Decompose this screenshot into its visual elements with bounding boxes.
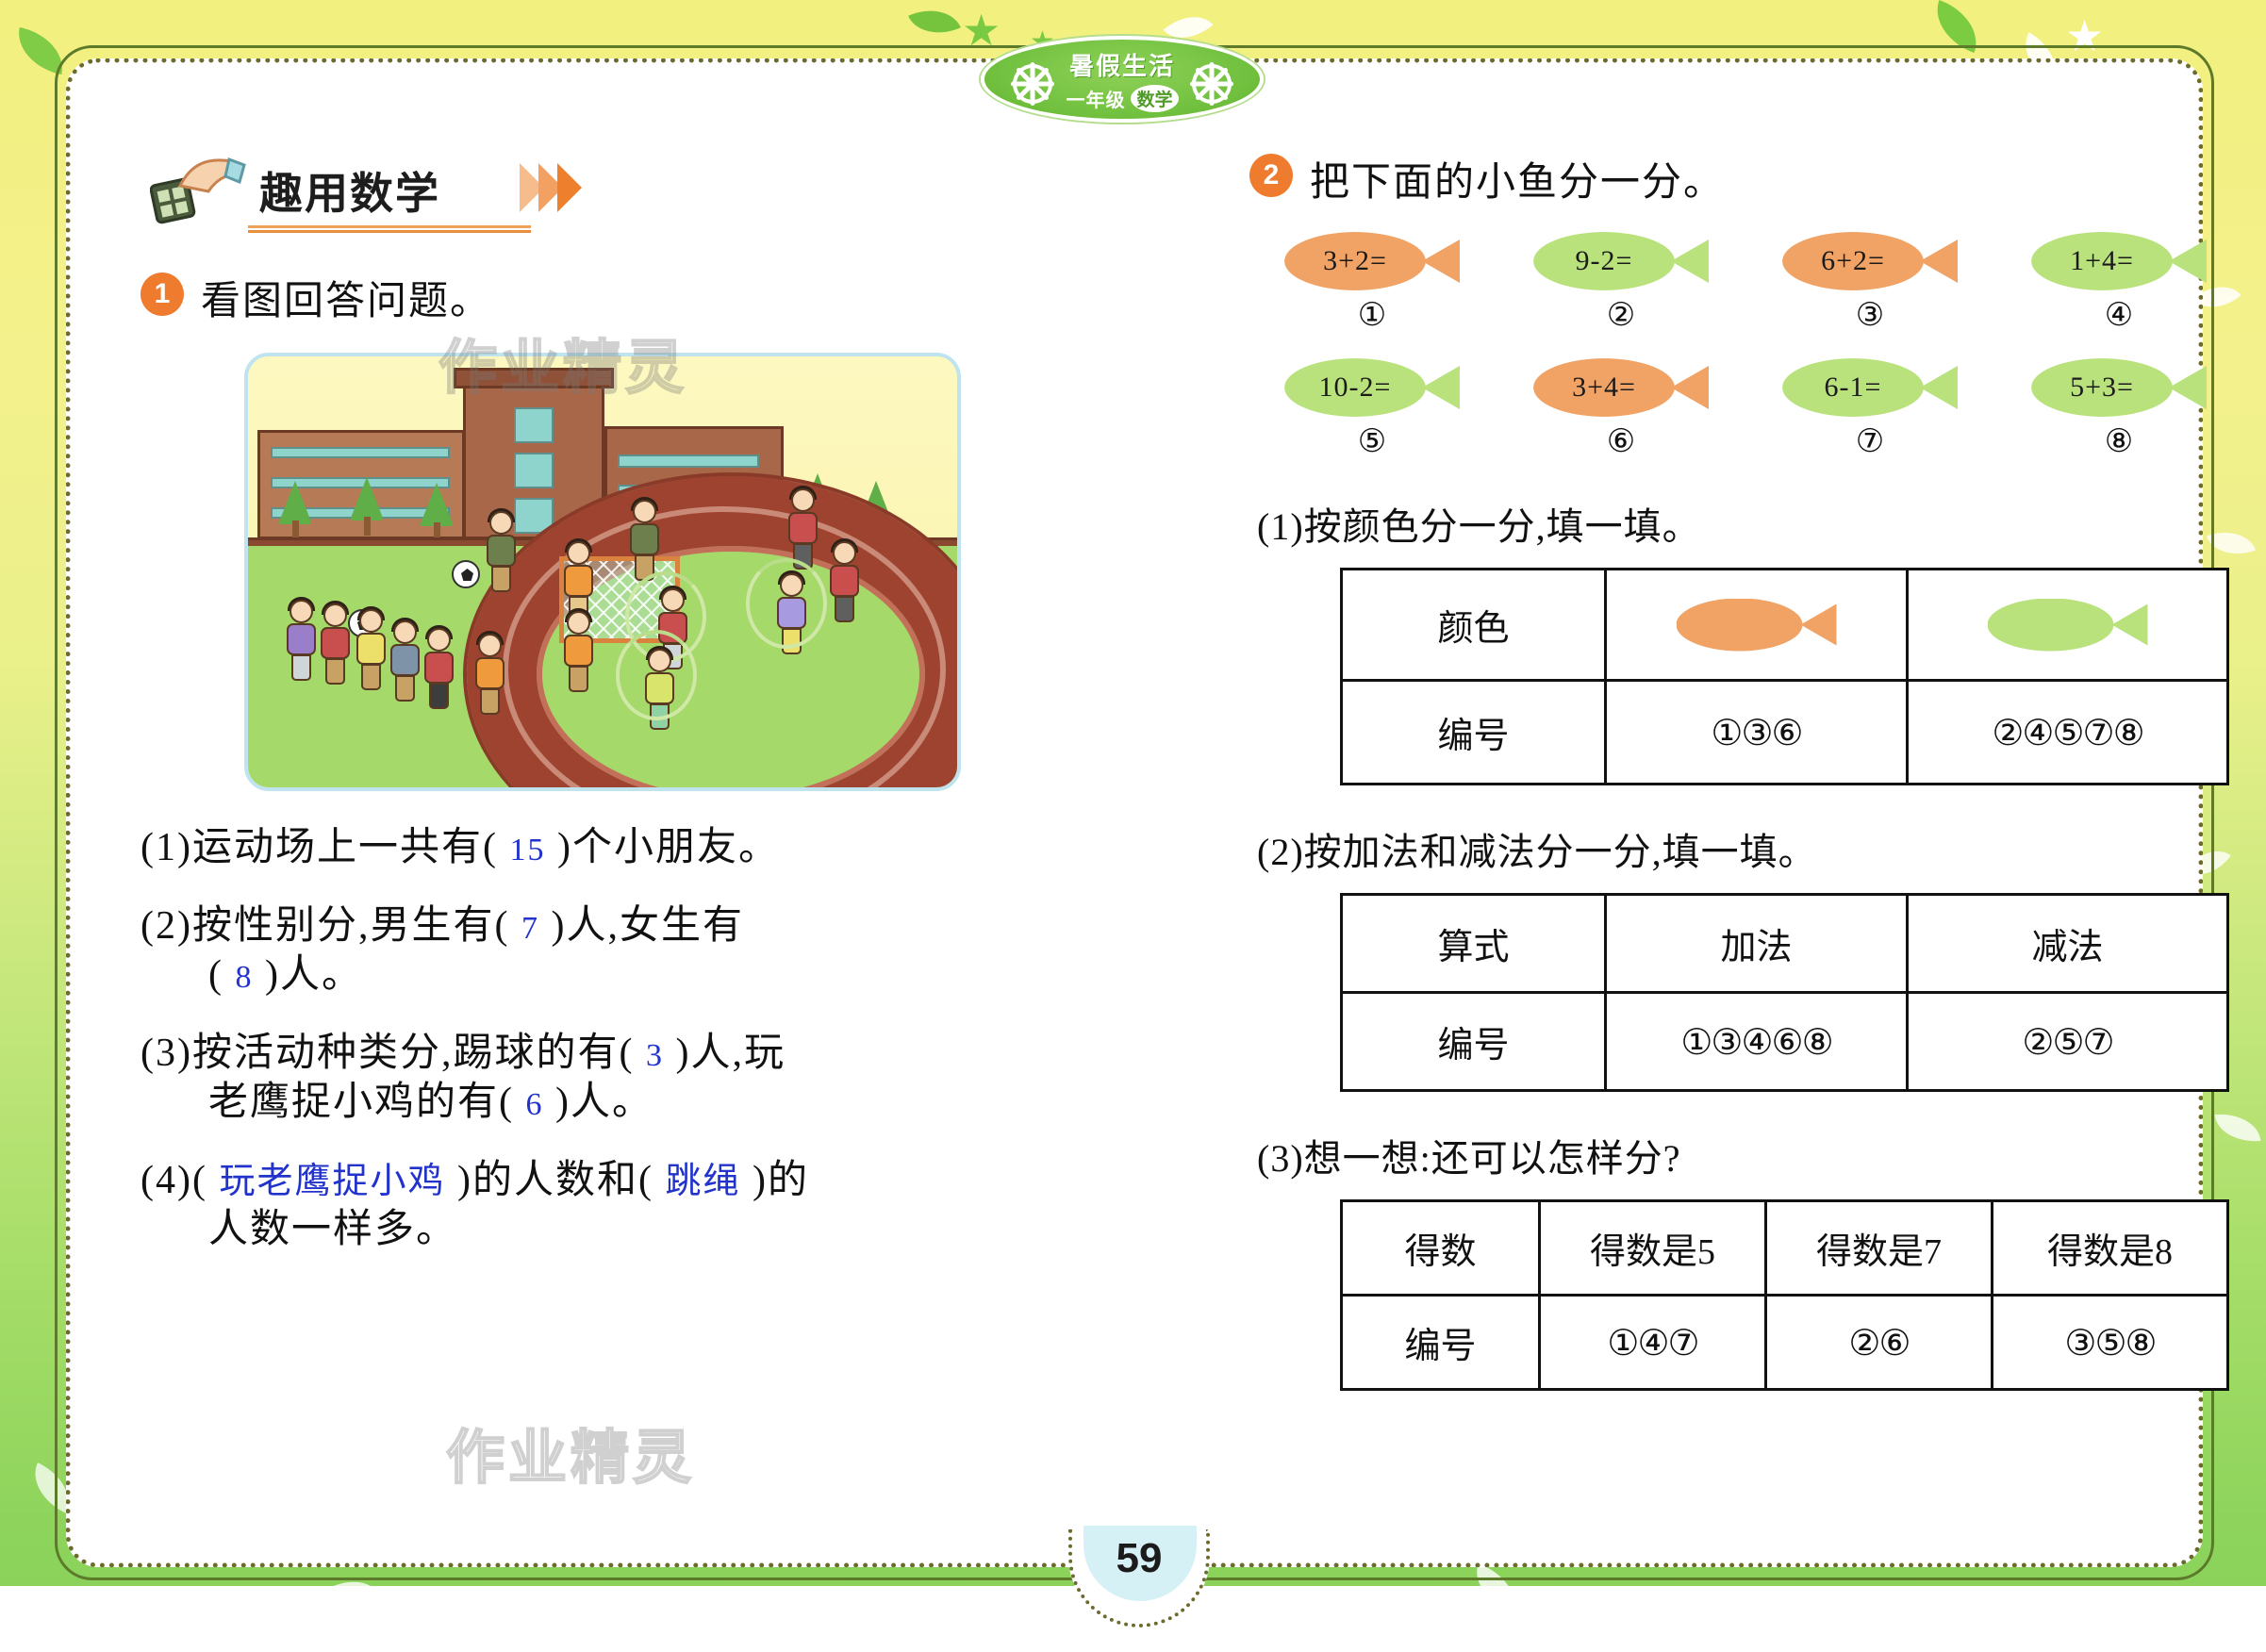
section-header: 趣用数学 bbox=[150, 150, 1159, 237]
fish-shape-orange bbox=[1677, 599, 1837, 652]
watermark: 作业精灵 bbox=[446, 1410, 695, 1495]
answer-line-1: (1)运动场上一共有( 15 )个小朋友。 bbox=[141, 823, 1159, 873]
row-header-id: 编号 bbox=[1342, 681, 1606, 785]
col-header-sum-5: 得数是5 bbox=[1540, 1201, 1766, 1296]
answer-sum8-ids[interactable]: ③⑤⑧ bbox=[1993, 1296, 2228, 1390]
fish-shape-5: 10-2= bbox=[1284, 358, 1460, 417]
fish-shape-4: 1+4= bbox=[2031, 232, 2207, 290]
row-header-color: 颜色 bbox=[1342, 570, 1606, 681]
answer-orange-ids[interactable]: ①③⑥ bbox=[1606, 681, 1908, 785]
fish-row-top: 3+2= ① 9-2= ② 6+2= ③ bbox=[1272, 232, 2266, 334]
fish-expression: 10-2= bbox=[1319, 372, 1392, 404]
col-header-sum-8: 得数是8 bbox=[1993, 1201, 2228, 1296]
fish-item: 10-2= ⑤ bbox=[1272, 358, 1472, 460]
fish-shape-1: 3+2= bbox=[1284, 232, 1460, 290]
worksheet-sheet: 趣用数学 1 看图回答问题。 bbox=[66, 58, 2203, 1567]
table-row: 编号 ①③④⑥⑧ ②⑤⑦ bbox=[1342, 993, 2228, 1091]
question-number-badge: 1 bbox=[141, 273, 184, 316]
item-text: )的 bbox=[753, 1159, 809, 1202]
item-text: )人,女生有 bbox=[551, 904, 744, 948]
col-header-addition: 加法 bbox=[1606, 895, 1908, 993]
ship-wheel-icon bbox=[1192, 64, 1232, 104]
row-header-id: 编号 bbox=[1342, 1296, 1540, 1390]
col-header-sum-7: 得数是7 bbox=[1766, 1201, 1993, 1296]
table-row: 颜色 bbox=[1342, 570, 2228, 681]
playground-illustration bbox=[244, 353, 961, 791]
book-title-badge: 暑假生活 一年级 数学 bbox=[981, 36, 1264, 123]
answer-line-3: (3)按活动种类分,踢球的有( 3 )人,玩 老鹰捉小鸡的有( 6 )人。 bbox=[141, 1029, 1159, 1128]
fish-item: 5+3= ⑧ bbox=[2019, 358, 2219, 460]
fish-shape-3: 6+2= bbox=[1782, 232, 1958, 290]
item-text: )人。 bbox=[265, 953, 363, 997]
fish-item: 1+4= ④ bbox=[2019, 232, 2219, 334]
item-text: ( bbox=[208, 953, 223, 997]
question-1-heading: 1 看图回答问题。 bbox=[141, 269, 1159, 326]
fish-id: ⑦ bbox=[1770, 422, 1970, 460]
question-number-badge: 2 bbox=[1249, 154, 1293, 197]
question-1-answers: (1)运动场上一共有( 15 )个小朋友。 (2)按性别分,男生有( 7 )人,… bbox=[141, 823, 1159, 1255]
leaf-decoration bbox=[908, 0, 961, 45]
page-number: 59 bbox=[1116, 1535, 1163, 1582]
table-row: 得数 得数是5 得数是7 得数是8 bbox=[1342, 1201, 2228, 1296]
answer-subtraction-ids[interactable]: ②⑤⑦ bbox=[1908, 993, 2228, 1091]
answer-line-2: (2)按性别分,男生有( 7 )人,女生有 ( 8 )人。 bbox=[141, 901, 1159, 1000]
sub-question-1-prompt: (1)按颜色分一分,填一填。 bbox=[1257, 496, 2266, 551]
ship-wheel-icon bbox=[1013, 64, 1052, 104]
right-column: 2 把下面的小鱼分一分。 3+2= ① 9-2= ② bbox=[1249, 150, 2266, 1391]
fish-expression: 1+4= bbox=[2070, 245, 2134, 277]
fish-expression: 9-2= bbox=[1576, 245, 1633, 277]
chevron-right-icon bbox=[557, 163, 582, 212]
answer-blank-4a[interactable]: 玩老鹰捉小鸡 bbox=[219, 1162, 445, 1201]
answer-sum5-ids[interactable]: ①④⑦ bbox=[1540, 1296, 1766, 1390]
section-title: 趣用数学 bbox=[259, 159, 440, 222]
answer-blank-3a[interactable]: 3 bbox=[646, 1038, 664, 1073]
fish-item: 3+2= ① bbox=[1272, 232, 1472, 334]
fish-id: ④ bbox=[2019, 296, 2219, 334]
item-label: (2) bbox=[141, 904, 192, 948]
fish-expression: 6-1= bbox=[1825, 372, 1882, 404]
fish-id: ⑧ bbox=[2019, 422, 2219, 460]
item-text: 人数一样多。 bbox=[208, 1208, 457, 1251]
answer-blank-1[interactable]: 15 bbox=[509, 833, 545, 867]
fish-expression: 3+2= bbox=[1323, 245, 1387, 277]
fish-id: ① bbox=[1272, 296, 1472, 334]
sum-classification-table: 得数 得数是5 得数是7 得数是8 编号 ①④⑦ ②⑥ ③⑤⑧ bbox=[1340, 1199, 2229, 1391]
sub-question-2-prompt: (2)按加法和减法分一分,填一填。 bbox=[1257, 821, 2266, 876]
item-label: (4) bbox=[141, 1159, 192, 1202]
green-fish-header bbox=[1908, 570, 2228, 681]
item-text: 按性别分,男生有( bbox=[192, 904, 510, 948]
fish-item: 6+2= ③ bbox=[1770, 232, 1970, 334]
row-header-sum: 得数 bbox=[1342, 1201, 1540, 1296]
soccer-ball-icon bbox=[452, 560, 480, 588]
answer-addition-ids[interactable]: ①③④⑥⑧ bbox=[1606, 993, 1908, 1091]
item-text: ( bbox=[192, 1159, 207, 1202]
sub-question-3-prompt: (3)想一想:还可以怎样分? bbox=[1257, 1128, 2266, 1182]
fish-shape-7: 6-1= bbox=[1782, 358, 1958, 417]
table-row: 编号 ①④⑦ ②⑥ ③⑤⑧ bbox=[1342, 1296, 2228, 1390]
fish-row-bottom: 10-2= ⑤ 3+4= ⑥ 6-1= ⑦ bbox=[1272, 358, 2266, 460]
item-text: )人,玩 bbox=[675, 1032, 786, 1075]
fish-expression: 3+4= bbox=[1572, 372, 1636, 404]
fish-id: ② bbox=[1521, 296, 1721, 334]
fish-shape-green bbox=[1988, 599, 2148, 652]
item-label: (3) bbox=[141, 1032, 192, 1075]
fish-shape-6: 3+4= bbox=[1533, 358, 1709, 417]
answer-blank-4b[interactable]: 跳绳 bbox=[665, 1162, 740, 1201]
item-text: 按活动种类分,踢球的有( bbox=[192, 1032, 635, 1075]
fish-item: 3+4= ⑥ bbox=[1521, 358, 1721, 460]
item-label: (1) bbox=[141, 826, 192, 869]
left-column: 趣用数学 1 看图回答问题。 bbox=[141, 150, 1159, 1283]
item-text: )的人数和( bbox=[457, 1159, 653, 1202]
item-text: )个小朋友。 bbox=[557, 826, 780, 869]
book-subject: 数学 bbox=[1131, 85, 1178, 112]
fish-item: 9-2= ② bbox=[1521, 232, 1721, 334]
answer-line-4: (4)( 玩老鹰捉小鸡 )的人数和( 跳绳 )的 人数一样多。 bbox=[141, 1156, 1159, 1255]
answer-sum7-ids[interactable]: ②⑥ bbox=[1766, 1296, 1993, 1390]
answer-blank-3b[interactable]: 6 bbox=[526, 1087, 544, 1122]
question-2-prompt: 把下面的小鱼分一分。 bbox=[1310, 150, 1725, 207]
fish-id: ⑤ bbox=[1272, 422, 1472, 460]
fish-item: 6-1= ⑦ bbox=[1770, 358, 1970, 460]
operation-classification-table: 算式 加法 减法 编号 ①③④⑥⑧ ②⑤⑦ bbox=[1340, 893, 2229, 1092]
orange-fish-header bbox=[1606, 570, 1908, 681]
answer-blank-2b[interactable]: 8 bbox=[236, 960, 254, 995]
fish-id: ③ bbox=[1770, 296, 1970, 334]
color-classification-table: 颜色 编号 ①③⑥ ②④⑤⑦⑧ bbox=[1340, 568, 2229, 785]
hand-calculator-icon bbox=[150, 154, 248, 225]
fish-id: ⑥ bbox=[1521, 422, 1721, 460]
fish-shape-2: 9-2= bbox=[1533, 232, 1709, 290]
row-header-id: 编号 bbox=[1342, 993, 1606, 1091]
item-text: )人。 bbox=[555, 1081, 653, 1124]
question-2-heading: 2 把下面的小鱼分一分。 bbox=[1249, 150, 2266, 207]
answer-green-ids[interactable]: ②④⑤⑦⑧ bbox=[1908, 681, 2228, 785]
book-title: 暑假生活 bbox=[1069, 47, 1175, 82]
table-row: 算式 加法 减法 bbox=[1342, 895, 2228, 993]
section-underline bbox=[248, 225, 531, 233]
fish-expression: 5+3= bbox=[2070, 372, 2134, 404]
question-1-prompt: 看图回答问题。 bbox=[201, 269, 491, 326]
col-header-subtraction: 减法 bbox=[1908, 895, 2228, 993]
table-row: 编号 ①③⑥ ②④⑤⑦⑧ bbox=[1342, 681, 2228, 785]
fish-shape-8: 5+3= bbox=[2031, 358, 2207, 417]
item-text: 运动场上一共有( bbox=[192, 826, 498, 869]
row-header-expression: 算式 bbox=[1342, 895, 1606, 993]
fish-expression: 6+2= bbox=[1821, 245, 1885, 277]
item-text: 老鹰捉小鸡的有( bbox=[208, 1081, 514, 1124]
book-grade: 一年级 bbox=[1066, 85, 1125, 112]
answer-blank-2a[interactable]: 7 bbox=[521, 911, 539, 946]
